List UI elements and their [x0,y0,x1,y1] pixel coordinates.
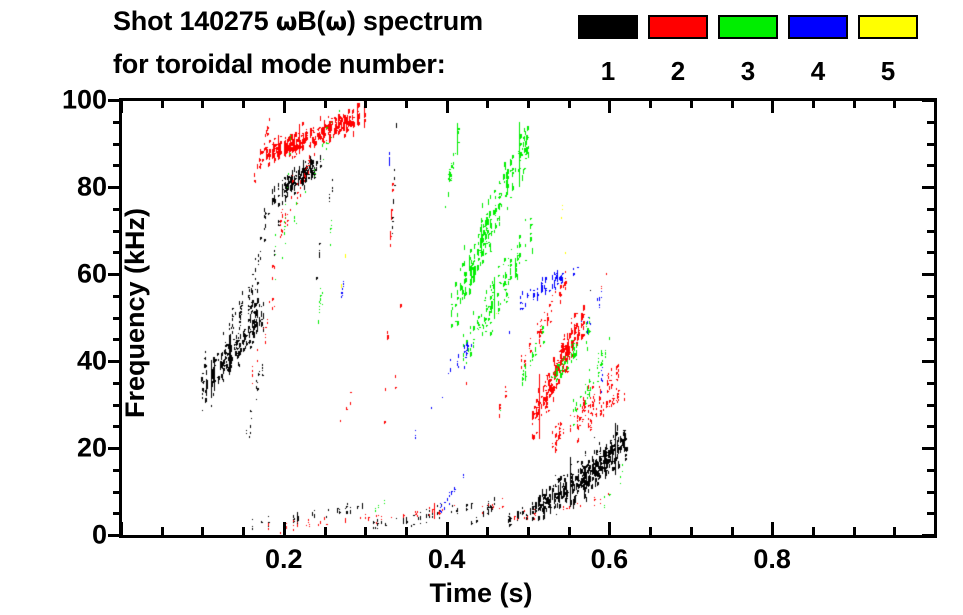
x-tick-label-0.6: 0.6 [591,544,629,575]
x-tick-major-t [934,100,937,113]
x-tick-major [934,522,937,535]
legend-label-5: 5 [858,56,918,87]
y-axis-title: Frequency (kHz) [120,208,151,418]
y-tick-major [108,447,121,450]
y-tick-label-0: 0 [92,520,107,551]
plot-area: 0204060801000.20.40.60.8 Frequency (kHz) [121,100,935,535]
y-tick-major-r [922,447,935,450]
x-tick-minor [486,527,489,535]
x-tick-label-0.4: 0.4 [428,544,466,575]
x-tick-minor [853,527,856,535]
y-tick-minor-r [927,251,935,254]
x-axis-title: Time (s) [429,578,532,609]
x-tick-minor-t [486,100,489,108]
x-tick-minor [364,527,367,535]
x-tick-minor [242,527,245,535]
x-tick-major [608,522,611,535]
x-tick-major-t [446,100,449,113]
omega-symbol-2: ω [325,7,347,36]
y-tick-minor-r [927,469,935,472]
x-tick-minor [161,527,164,535]
x-tick-minor-t [649,100,652,108]
x-tick-major-t [771,100,774,113]
chart-title: Shot 140275 ωB(ω) spectrum [113,6,483,37]
legend-swatch-1 [578,15,638,39]
chart-title-b: B( [297,6,325,36]
y-tick-major-r [922,186,935,189]
x-tick-minor-t [853,100,856,108]
x-tick-minor [690,527,693,535]
x-tick-minor-t [568,100,571,108]
x-tick-major-t [608,100,611,113]
y-tick-minor [113,469,121,472]
y-tick-minor [113,491,121,494]
x-tick-major [446,522,449,535]
y-tick-minor-r [927,317,935,320]
spectrogram-canvas [121,100,935,535]
chart-subtitle: for toroidal mode number: [113,49,446,80]
x-tick-minor-t [324,100,327,108]
y-tick-minor-r [927,382,935,385]
omega-symbol-1: ω [276,7,298,36]
x-tick-minor [527,527,530,535]
legend-label-4: 4 [788,56,848,87]
y-tick-minor [113,164,121,167]
y-tick-minor [113,121,121,124]
x-tick-minor-t [405,100,408,108]
x-tick-minor [405,527,408,535]
x-tick-minor [201,527,204,535]
y-tick-minor-r [927,121,935,124]
x-tick-label-0.2: 0.2 [265,544,303,575]
legend-swatch-4 [788,15,848,39]
x-tick-major-t [283,100,286,113]
y-tick-minor-r [927,512,935,515]
x-tick-minor [568,527,571,535]
y-tick-minor [113,512,121,515]
y-tick-major-r [922,360,935,363]
legend-swatch-3 [718,15,778,39]
x-tick-minor [324,527,327,535]
y-tick-minor-r [927,143,935,146]
x-tick-minor-t [161,100,164,108]
legend-label-3: 3 [718,56,778,87]
x-tick-minor [731,527,734,535]
legend-swatch-2 [648,15,708,39]
y-tick-minor [113,425,121,428]
x-tick-minor-t [690,100,693,108]
x-tick-minor-t [364,100,367,108]
x-tick-label-0.8: 0.8 [753,544,791,575]
y-tick-minor-r [927,164,935,167]
legend: 12345 [578,10,948,88]
y-tick-label-80: 80 [77,172,107,203]
x-tick-minor-t [242,100,245,108]
x-tick-minor-t [812,100,815,108]
chart-title-suffix: ) spectrum [347,6,483,36]
x-tick-major [771,522,774,535]
legend-label-2: 2 [648,56,708,87]
x-tick-minor [893,527,896,535]
y-tick-minor-r [927,230,935,233]
spectrogram-figure: Shot 140275 ωB(ω) spectrum for toroidal … [0,0,963,615]
y-tick-minor [113,143,121,146]
x-tick-minor [812,527,815,535]
y-tick-label-60: 60 [77,259,107,290]
x-tick-minor-t [201,100,204,108]
y-tick-label-100: 100 [62,85,107,116]
y-tick-minor-r [927,338,935,341]
x-tick-major [120,522,123,535]
y-tick-minor-r [927,491,935,494]
y-tick-minor-r [927,425,935,428]
axis-bottom [119,535,937,538]
y-tick-minor-r [927,295,935,298]
chart-title-prefix: Shot 140275 [113,6,276,36]
y-tick-minor-r [927,208,935,211]
y-tick-major-r [922,273,935,276]
y-tick-label-20: 20 [77,433,107,464]
x-tick-minor-t [893,100,896,108]
y-tick-label-40: 40 [77,346,107,377]
x-tick-minor-t [527,100,530,108]
legend-swatch-5 [858,15,918,39]
x-tick-minor [649,527,652,535]
y-tick-minor-r [927,404,935,407]
x-tick-major [283,522,286,535]
legend-label-1: 1 [578,56,638,87]
x-tick-minor-t [731,100,734,108]
y-tick-major [108,186,121,189]
x-tick-major-t [120,100,123,113]
